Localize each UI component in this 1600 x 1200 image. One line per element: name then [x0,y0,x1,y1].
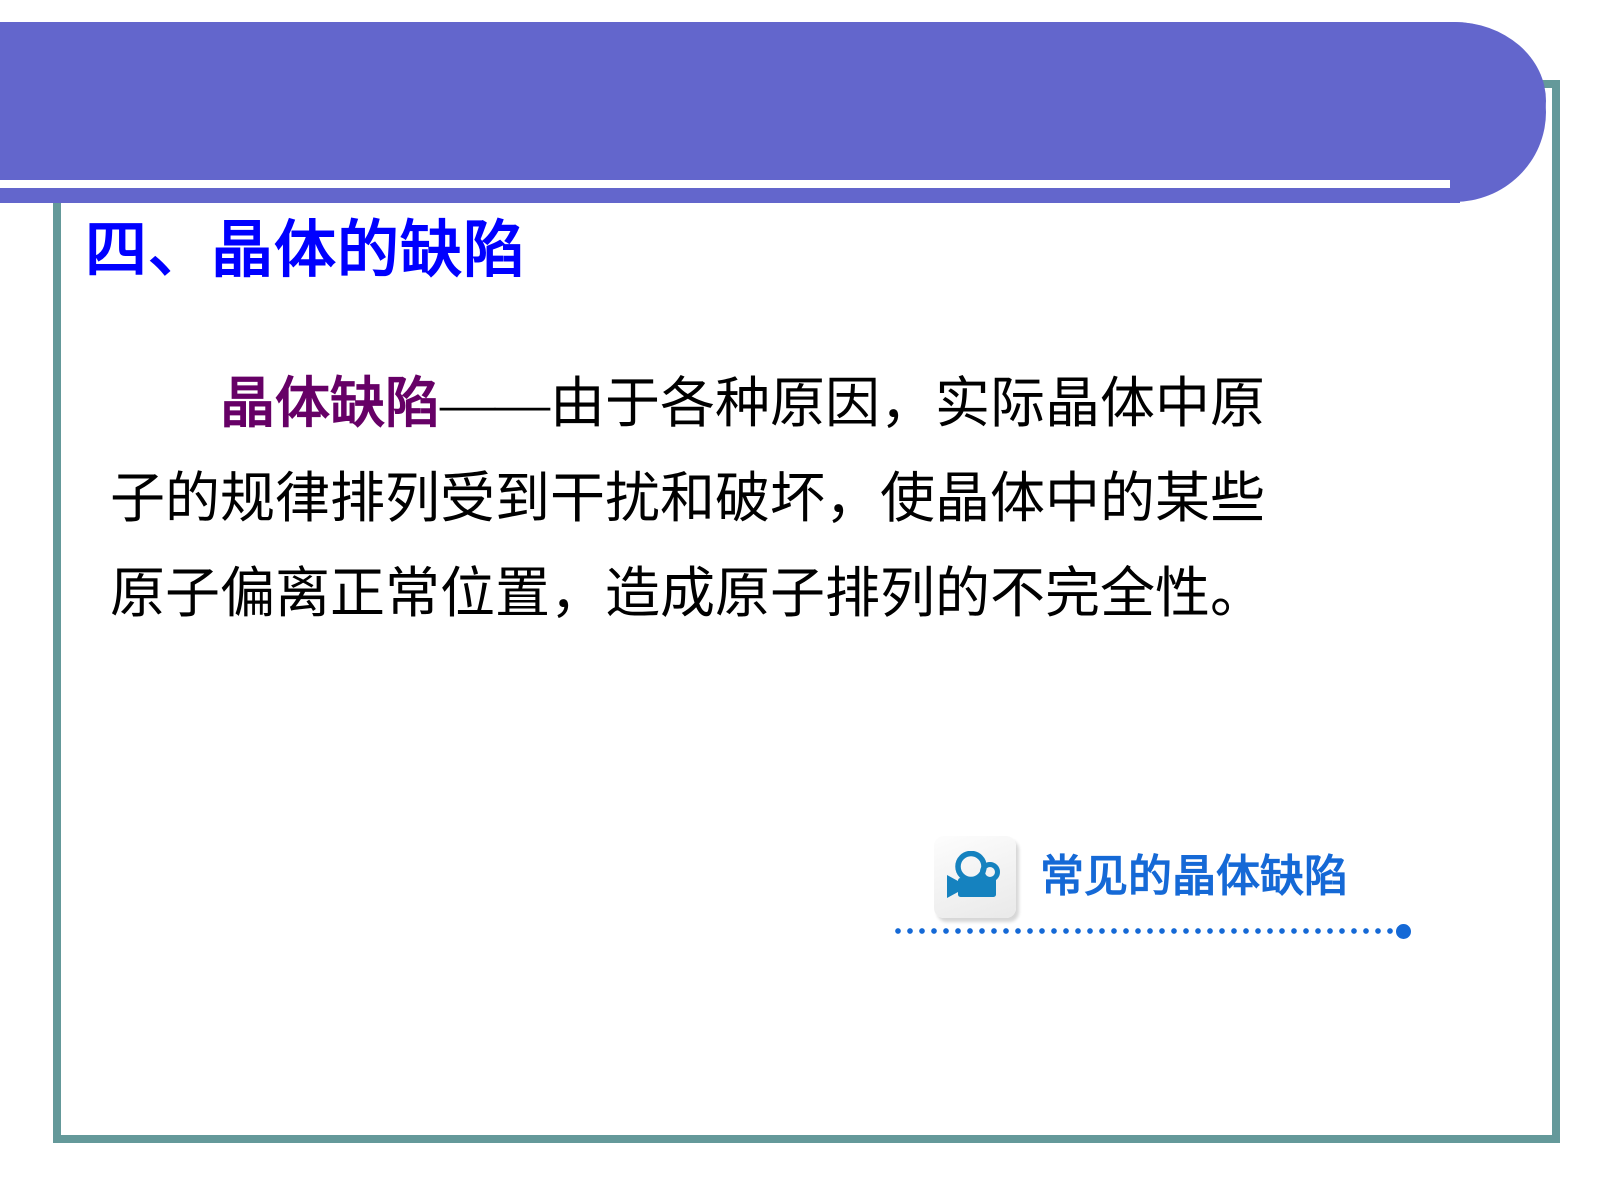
video-link[interactable]: 常见的晶体缺陷 [934,836,1348,918]
body-line-3: 原子偏离正常位置，造成原子排列的不完全性。 [110,546,1430,641]
body-paragraph: 晶体缺陷——由于各种原因，实际晶体中原 子的规律排列受到干扰和破坏，使晶体中的某… [110,356,1430,641]
movie-camera-icon[interactable] [934,836,1016,918]
dotted-underline [892,927,1402,935]
body-line-1: 晶体缺陷——由于各种原因，实际晶体中原 [110,356,1430,451]
video-link-label[interactable]: 常见的晶体缺陷 [1040,851,1348,903]
body-line-2: 子的规律排列受到干扰和破坏，使晶体中的某些 [110,451,1430,546]
body-line-1-text: ——由于各种原因，实际晶体中原 [440,373,1265,434]
slide-content: 四、晶体的缺陷 晶体缺陷——由于各种原因，实际晶体中原 子的规律排列受到干扰和破… [0,0,1600,1200]
slide-title: 四、晶体的缺陷 [85,214,526,288]
slide-canvas: 四、晶体的缺陷 晶体缺陷——由于各种原因，实际晶体中原 子的规律排列受到干扰和破… [0,0,1600,1200]
dotted-underline-end-dot [1396,924,1411,939]
highlighted-term: 晶体缺陷 [220,373,440,434]
